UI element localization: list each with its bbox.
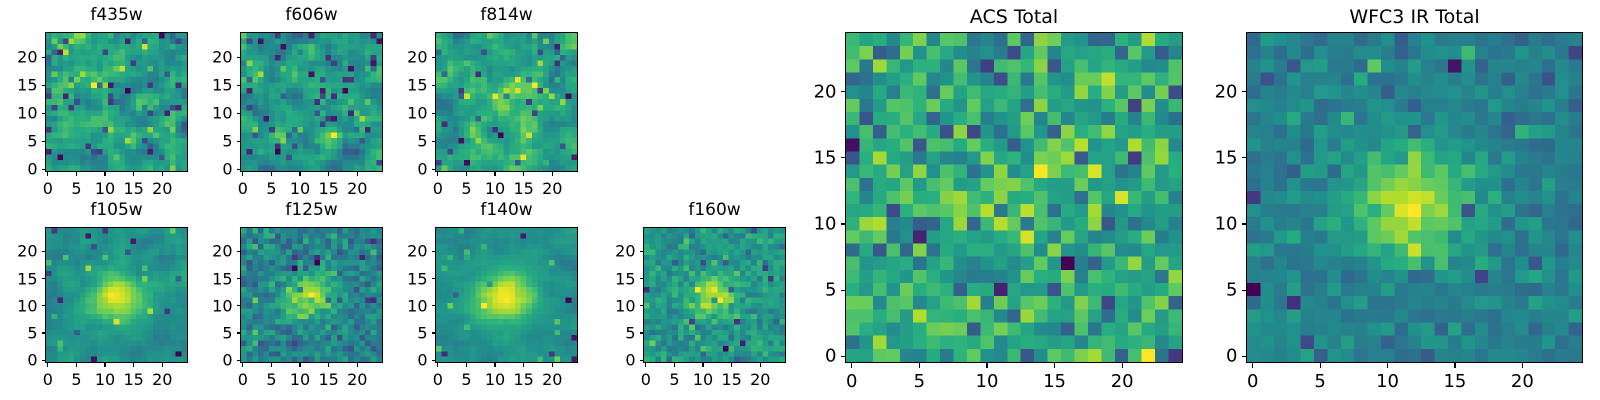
heatmap-image-f140w [436,228,577,362]
x-ticklabel-f160w-3: 15 [721,370,741,389]
y-ticklabel-f140w-0: 0 [375,351,428,370]
y-tick-wfc3-ir-total-0 [1242,356,1247,357]
x-ticklabel-f160w-1: 5 [669,370,679,389]
y-ticklabel-acs-total-0: 0 [785,346,837,367]
y-tick-f606w-1 [237,141,241,142]
x-ticklabel-f435w-3: 15 [123,179,143,198]
x-tick-f140w-4 [552,363,553,367]
x-ticklabel-acs-total-0: 0 [846,371,857,392]
y-tick-f435w-2 [42,113,46,114]
x-tick-f140w-0 [437,363,438,367]
y-tick-wfc3-ir-total-1 [1242,290,1247,291]
y-ticklabel-f105w-1: 5 [0,324,38,343]
y-tick-f606w-3 [237,85,241,86]
y-tick-f435w-3 [42,85,46,86]
x-tick-f105w-4 [162,363,163,367]
x-tick-acs-total-0 [851,363,852,368]
x-ticklabel-f140w-0: 0 [433,370,443,389]
y-tick-f435w-0 [42,169,46,170]
x-ticklabel-f105w-4: 20 [152,370,172,389]
panel-title-acs-total: ACS Total [845,6,1183,28]
x-tick-f125w-0 [242,363,243,367]
heatmap-image-f125w [241,228,382,362]
x-tick-acs-total-3 [1054,363,1055,368]
y-tick-acs-total-1 [841,290,846,291]
x-tick-wfc3-ir-total-1 [1320,363,1321,368]
x-tick-f606w-3 [328,172,329,176]
x-tick-f435w-3 [133,172,134,176]
x-tick-f606w-0 [242,172,243,176]
y-ticklabel-f606w-0: 0 [180,160,233,179]
panel-wfc3-ir-total: WFC3 IR Total0510152005101520 [1186,6,1600,397]
x-tick-f140w-1 [466,363,467,367]
axes-wfc3-ir-total [1246,32,1583,363]
x-tick-f814w-2 [494,172,495,176]
y-ticklabel-f160w-4: 20 [583,242,636,261]
x-tick-f125w-2 [299,363,300,367]
x-tick-f140w-3 [523,363,524,367]
heatmap-image-f435w [46,33,187,171]
y-ticklabel-f814w-4: 20 [375,48,428,67]
panel-f606w: f606w0510152005101520 [180,6,403,206]
x-tick-f606w-1 [271,172,272,176]
x-ticklabel-f606w-2: 10 [290,179,310,198]
x-ticklabel-wfc3-ir-total-1: 5 [1314,371,1325,392]
x-ticklabel-f140w-2: 10 [485,370,505,389]
x-tick-f160w-3 [731,363,732,367]
heatmap-image-f105w [46,228,187,362]
y-tick-f105w-0 [42,360,46,361]
y-ticklabel-wfc3-ir-total-4: 20 [1186,81,1238,102]
x-tick-f160w-0 [645,363,646,367]
x-tick-f125w-3 [328,363,329,367]
x-ticklabel-f105w-0: 0 [43,370,53,389]
heatmap-image-f606w [241,33,382,171]
panel-f105w: f105w0510152005101520 [0,201,208,397]
x-tick-f160w-1 [674,363,675,367]
x-ticklabel-f105w-2: 10 [95,370,115,389]
y-tick-f140w-0 [432,360,436,361]
x-tick-wfc3-ir-total-0 [1252,363,1253,368]
y-ticklabel-wfc3-ir-total-1: 5 [1186,280,1238,301]
y-ticklabel-f160w-3: 15 [583,269,636,288]
y-ticklabel-f814w-0: 0 [375,160,428,179]
x-ticklabel-wfc3-ir-total-2: 10 [1376,371,1399,392]
axes-f125w [240,227,383,363]
x-tick-wfc3-ir-total-2 [1387,363,1388,368]
x-ticklabel-f435w-0: 0 [43,179,53,198]
y-tick-f160w-2 [640,305,644,306]
x-tick-f435w-2 [104,172,105,176]
y-tick-wfc3-ir-total-4 [1242,91,1247,92]
y-ticklabel-f606w-4: 20 [180,48,233,67]
panel-acs-total: ACS Total0510152005101520 [785,6,1203,397]
y-tick-f140w-1 [432,332,436,333]
x-tick-f105w-3 [133,363,134,367]
y-ticklabel-f105w-0: 0 [0,351,38,370]
heatmap-image-f814w [436,33,577,171]
y-ticklabel-f140w-1: 5 [375,324,428,343]
x-ticklabel-f606w-0: 0 [238,179,248,198]
y-tick-f125w-1 [237,332,241,333]
y-tick-wfc3-ir-total-3 [1242,157,1247,158]
axes-acs-total [845,32,1183,363]
y-ticklabel-f140w-4: 20 [375,242,428,261]
x-tick-f435w-1 [76,172,77,176]
x-tick-acs-total-1 [919,363,920,368]
x-ticklabel-acs-total-3: 15 [1043,371,1066,392]
y-tick-f160w-0 [640,360,644,361]
y-ticklabel-f435w-1: 5 [0,132,38,151]
y-tick-f606w-0 [237,169,241,170]
x-ticklabel-f160w-4: 20 [750,370,770,389]
x-ticklabel-f814w-3: 15 [513,179,533,198]
x-tick-f435w-0 [47,172,48,176]
panel-title-f140w: f140w [435,200,578,220]
x-ticklabel-f160w-2: 10 [693,370,713,389]
x-ticklabel-f105w-1: 5 [71,370,81,389]
y-tick-f140w-3 [432,278,436,279]
y-tick-wfc3-ir-total-2 [1242,223,1247,224]
x-ticklabel-f125w-1: 5 [266,370,276,389]
heatmap-image-f160w [644,228,785,362]
y-ticklabel-f435w-4: 20 [0,48,38,67]
x-ticklabel-f435w-1: 5 [71,179,81,198]
y-tick-f125w-0 [237,360,241,361]
y-tick-f606w-2 [237,113,241,114]
x-ticklabel-f125w-4: 20 [347,370,367,389]
axes-f140w [435,227,578,363]
y-tick-f140w-4 [432,251,436,252]
y-tick-f814w-2 [432,113,436,114]
x-ticklabel-f125w-2: 10 [290,370,310,389]
y-tick-f814w-1 [432,141,436,142]
panel-f140w: f140w0510152005101520 [375,201,598,397]
y-ticklabel-f140w-2: 10 [375,296,428,315]
x-tick-f160w-2 [702,363,703,367]
y-tick-f814w-4 [432,57,436,58]
x-tick-f105w-2 [104,363,105,367]
y-ticklabel-wfc3-ir-total-3: 15 [1186,147,1238,168]
x-tick-f125w-1 [271,363,272,367]
y-ticklabel-acs-total-1: 5 [785,280,837,301]
x-ticklabel-f105w-3: 15 [123,370,143,389]
y-ticklabel-f140w-3: 15 [375,269,428,288]
x-ticklabel-acs-total-4: 20 [1111,371,1134,392]
y-ticklabel-f160w-1: 5 [583,324,636,343]
y-ticklabel-wfc3-ir-total-2: 10 [1186,213,1238,234]
panel-f814w: f814w0510152005101520 [375,6,598,206]
panel-title-f125w: f125w [240,200,383,220]
y-ticklabel-f435w-3: 15 [0,76,38,95]
x-ticklabel-f125w-3: 15 [318,370,338,389]
x-ticklabel-acs-total-1: 5 [914,371,925,392]
x-ticklabel-f814w-1: 5 [461,179,471,198]
axes-f814w [435,32,578,172]
x-tick-f606w-2 [299,172,300,176]
x-ticklabel-f140w-3: 15 [513,370,533,389]
heatmap-image-wfc3-ir-total [1247,33,1582,362]
x-tick-f105w-1 [76,363,77,367]
y-ticklabel-f125w-1: 5 [180,324,233,343]
y-ticklabel-f435w-2: 10 [0,104,38,123]
x-tick-f435w-4 [162,172,163,176]
y-tick-f160w-4 [640,251,644,252]
y-ticklabel-f814w-3: 15 [375,76,428,95]
panel-f125w: f125w0510152005101520 [180,201,403,397]
x-ticklabel-f814w-2: 10 [485,179,505,198]
x-tick-f140w-2 [494,363,495,367]
panel-title-wfc3-ir-total: WFC3 IR Total [1246,6,1583,28]
y-tick-f140w-2 [432,305,436,306]
y-tick-f606w-4 [237,57,241,58]
y-ticklabel-f814w-1: 5 [375,132,428,151]
y-tick-acs-total-3 [841,157,846,158]
panel-title-f814w: f814w [435,5,578,25]
y-ticklabel-f105w-4: 20 [0,242,38,261]
y-tick-f105w-4 [42,251,46,252]
y-tick-f160w-3 [640,278,644,279]
x-tick-f160w-4 [760,363,761,367]
x-tick-f105w-0 [47,363,48,367]
x-ticklabel-f140w-4: 20 [542,370,562,389]
axes-f606w [240,32,383,172]
panel-title-f606w: f606w [240,5,383,25]
y-ticklabel-acs-total-3: 15 [785,147,837,168]
x-tick-f125w-4 [357,363,358,367]
x-ticklabel-wfc3-ir-total-0: 0 [1247,371,1258,392]
y-tick-f814w-3 [432,85,436,86]
y-ticklabel-f105w-3: 15 [0,269,38,288]
y-tick-f125w-2 [237,305,241,306]
panel-title-f435w: f435w [45,5,188,25]
x-tick-acs-total-4 [1122,363,1123,368]
y-ticklabel-f606w-3: 15 [180,76,233,95]
y-ticklabel-f105w-2: 10 [0,296,38,315]
y-tick-f105w-1 [42,332,46,333]
x-ticklabel-f125w-0: 0 [238,370,248,389]
x-tick-f814w-4 [552,172,553,176]
panel-title-f105w: f105w [45,200,188,220]
heatmap-image-acs-total [846,33,1182,362]
y-tick-acs-total-2 [841,223,846,224]
y-tick-acs-total-0 [841,356,846,357]
y-ticklabel-acs-total-2: 10 [785,213,837,234]
y-ticklabel-f814w-2: 10 [375,104,428,123]
y-tick-f435w-1 [42,141,46,142]
x-ticklabel-f435w-2: 10 [95,179,115,198]
y-ticklabel-acs-total-4: 20 [785,81,837,102]
axes-f105w [45,227,188,363]
y-tick-f125w-3 [237,278,241,279]
axes-f435w [45,32,188,172]
y-ticklabel-f125w-2: 10 [180,296,233,315]
x-tick-wfc3-ir-total-3 [1454,363,1455,368]
x-tick-acs-total-2 [986,363,987,368]
x-ticklabel-wfc3-ir-total-4: 20 [1511,371,1534,392]
x-ticklabel-f606w-4: 20 [347,179,367,198]
x-ticklabel-f606w-1: 5 [266,179,276,198]
y-tick-f105w-3 [42,278,46,279]
panel-f160w: f160w0510152005101520 [583,201,806,397]
y-ticklabel-f125w-3: 15 [180,269,233,288]
y-tick-f160w-1 [640,332,644,333]
x-tick-f814w-1 [466,172,467,176]
x-ticklabel-acs-total-2: 10 [976,371,999,392]
panel-title-f160w: f160w [643,200,786,220]
x-tick-wfc3-ir-total-4 [1522,363,1523,368]
y-ticklabel-f606w-1: 5 [180,132,233,151]
x-tick-f606w-4 [357,172,358,176]
y-ticklabel-f160w-0: 0 [583,351,636,370]
y-tick-acs-total-4 [841,91,846,92]
axes-f160w [643,227,786,363]
x-ticklabel-f606w-3: 15 [318,179,338,198]
y-tick-f105w-2 [42,305,46,306]
matplotlib-figure: f435w0510152005101520f606w05101520051015… [0,0,1600,400]
x-ticklabel-wfc3-ir-total-3: 15 [1443,371,1466,392]
y-ticklabel-f606w-2: 10 [180,104,233,123]
x-tick-f814w-3 [523,172,524,176]
x-ticklabel-f814w-0: 0 [433,179,443,198]
y-ticklabel-wfc3-ir-total-0: 0 [1186,346,1238,367]
y-ticklabel-f435w-0: 0 [0,160,38,179]
x-ticklabel-f814w-4: 20 [542,179,562,198]
y-ticklabel-f160w-2: 10 [583,296,636,315]
x-ticklabel-f140w-1: 5 [461,370,471,389]
x-ticklabel-f160w-0: 0 [641,370,651,389]
y-ticklabel-f125w-0: 0 [180,351,233,370]
x-tick-f814w-0 [437,172,438,176]
y-tick-f435w-4 [42,57,46,58]
x-ticklabel-f435w-4: 20 [152,179,172,198]
y-tick-f814w-0 [432,169,436,170]
panel-f435w: f435w0510152005101520 [0,6,208,206]
y-ticklabel-f125w-4: 20 [180,242,233,261]
y-tick-f125w-4 [237,251,241,252]
